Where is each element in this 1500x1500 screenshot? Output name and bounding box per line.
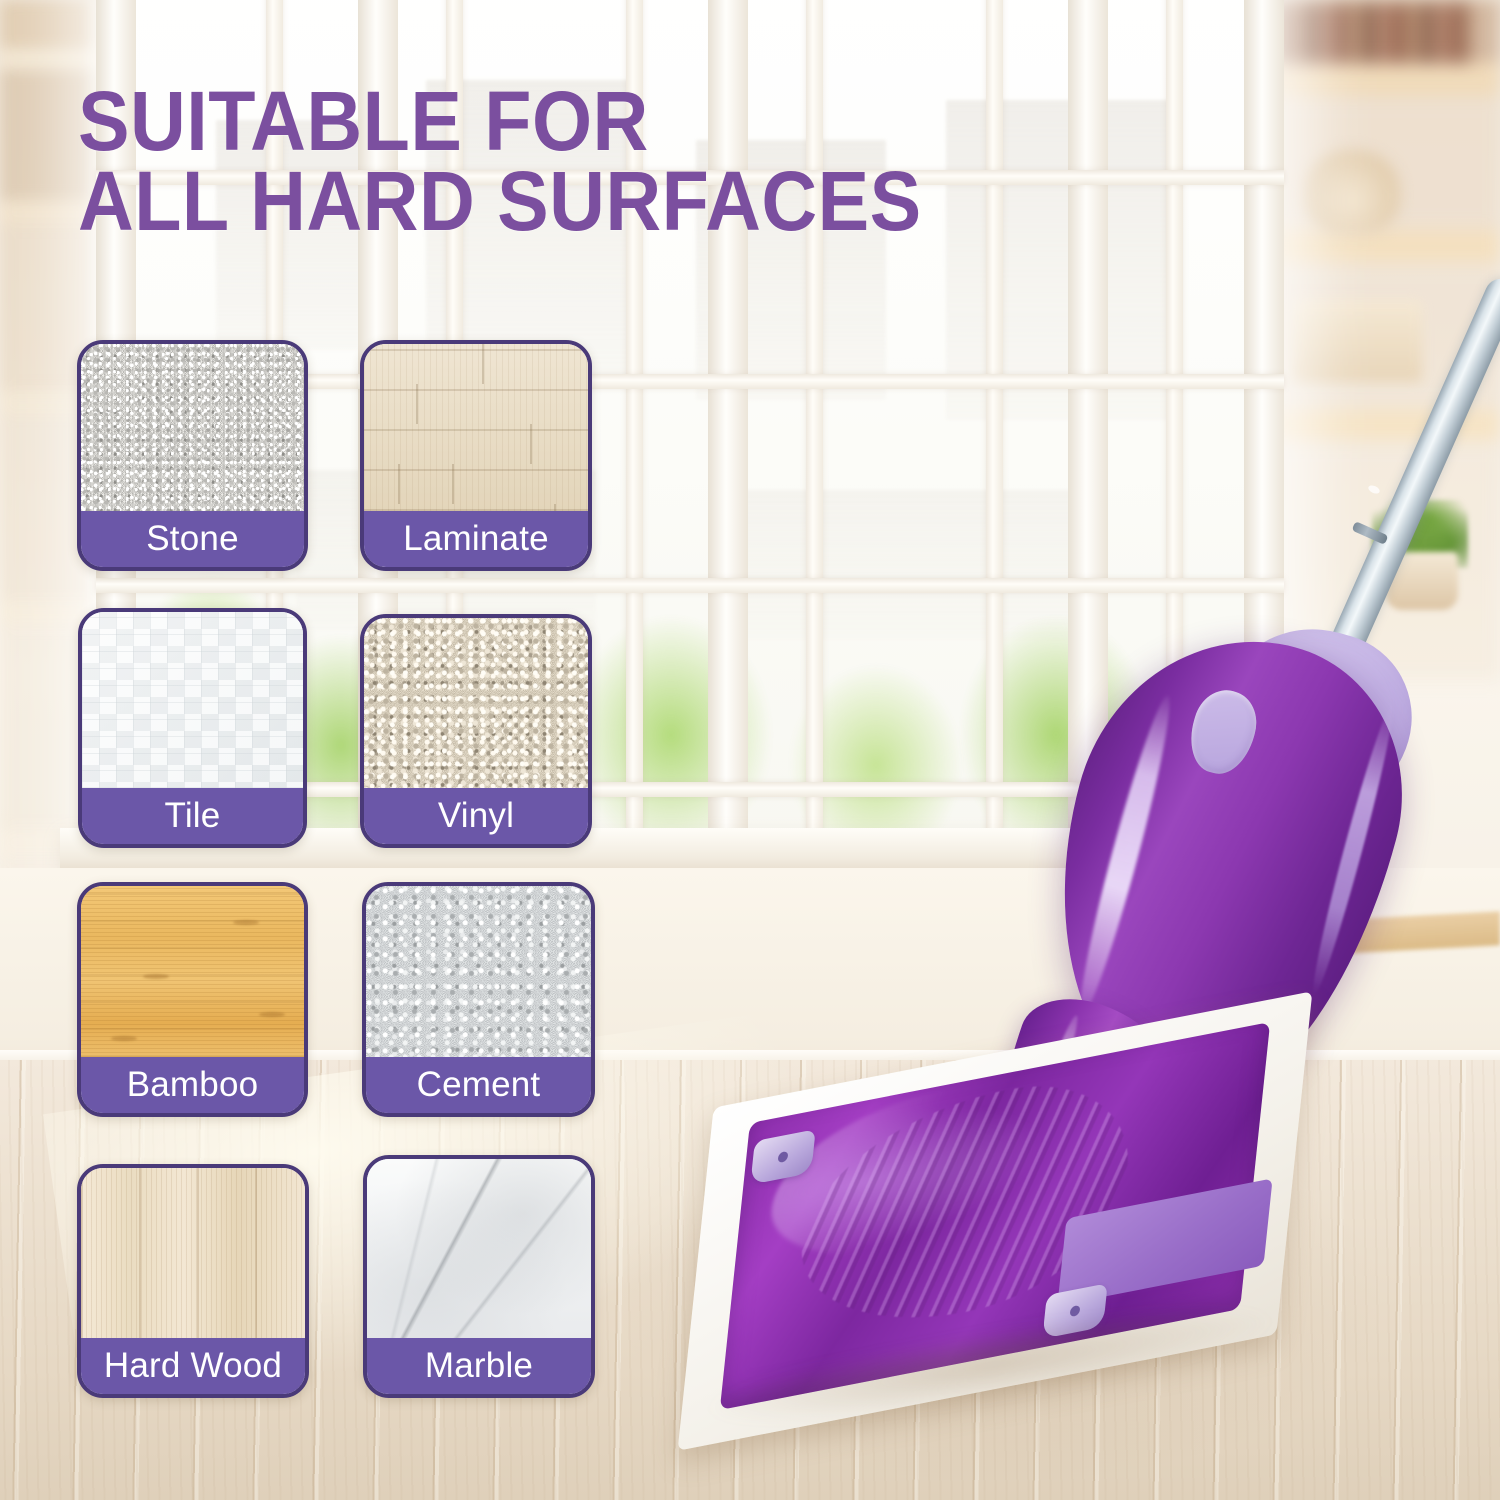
swatch-cement <box>366 886 591 1057</box>
books-decor <box>1282 4 1472 62</box>
storage-box-decor <box>1292 300 1422 382</box>
surface-card-hardwood[interactable]: Hard Wood <box>77 1164 309 1398</box>
surface-card-stone[interactable]: Stone <box>77 340 308 571</box>
product-feature-image: SUITABLE FOR ALL HARD SURFACES Stone Lam… <box>0 0 1500 1500</box>
surface-card-cement[interactable]: Cement <box>362 882 595 1117</box>
surface-card-vinyl[interactable]: Vinyl <box>360 614 592 848</box>
headline-line-1: SUITABLE FOR <box>78 82 906 162</box>
surface-card-laminate[interactable]: Laminate <box>360 340 592 571</box>
swatch-hardwood <box>81 1168 305 1338</box>
surface-label-hardwood: Hard Wood <box>81 1338 305 1394</box>
headline-line-2: ALL HARD SURFACES <box>78 162 906 242</box>
surface-card-bamboo[interactable]: Bamboo <box>77 882 308 1117</box>
vase-decor <box>1304 150 1400 234</box>
surface-label-stone: Stone <box>81 511 304 567</box>
surface-card-tile[interactable]: Tile <box>78 608 307 848</box>
headline: SUITABLE FOR ALL HARD SURFACES <box>78 82 978 242</box>
swatch-stone <box>81 344 304 511</box>
swatch-laminate <box>364 344 588 511</box>
surface-label-cement: Cement <box>366 1057 591 1113</box>
surface-label-marble: Marble <box>367 1338 591 1394</box>
swatch-marble <box>367 1159 591 1338</box>
surface-label-vinyl: Vinyl <box>364 788 588 844</box>
surface-label-tile: Tile <box>82 788 303 844</box>
swatch-tile <box>82 612 303 788</box>
surface-label-bamboo: Bamboo <box>81 1057 304 1113</box>
surface-card-marble[interactable]: Marble <box>363 1155 595 1398</box>
surface-label-laminate: Laminate <box>364 511 588 567</box>
swatch-vinyl <box>364 618 588 788</box>
swatch-bamboo <box>81 886 304 1057</box>
